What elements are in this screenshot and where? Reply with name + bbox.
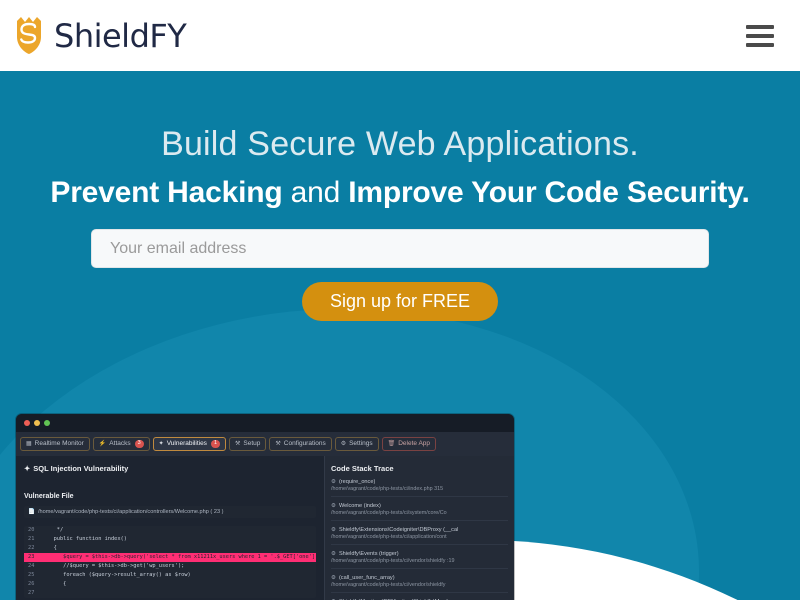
stack-item-head: ⚙ Shieldfy\Events (trigger) [331,551,508,557]
line-content: public function index() [44,535,127,544]
stack-item-head: ⚙ Shieldfy\Extensions\Codeigniter\DBProx… [331,527,508,533]
stack-item-call: (require_once) [339,479,375,485]
bug-icon: ✦ [24,464,30,473]
hamburger-line-2 [746,34,774,38]
gear-icon: ⚙ [331,551,336,557]
brand-logo[interactable]: ShieldFY [12,13,186,59]
code-line: 21 public function index() [24,535,316,544]
stack-item-path: /home/vagrant/code/php-tests/ci/vendor/s… [331,582,508,588]
code-line: 25 foreach ($query->result_array() as $r… [24,571,316,580]
sliders-icon: ⚙ [341,441,346,447]
landing-page: ShieldFY Build Secure Web Applications. … [0,0,800,600]
stack-item-call: (call_user_func_array) [339,575,395,581]
bug-icon: ✦ [159,441,164,447]
line-number: 23 [24,553,44,562]
tab-vulnerabilities[interactable]: ✦ Vulnerabilities 1 [153,437,226,451]
tab-label: Configurations [284,441,326,448]
signup-button[interactable]: Sign up for FREE [302,282,498,321]
tab-label: Setup [243,441,260,448]
stack-trace-item[interactable]: ⚙ Welcome (index) /home/vagrant/code/php… [331,503,508,521]
stack-item-head: ⚙ (call_user_func_array) [331,575,508,581]
line-number: 22 [24,544,44,553]
code-line: 26 { [24,580,316,589]
window-close-dot[interactable] [24,420,30,426]
code-line: 20 */ [24,526,316,535]
line-content: */ [44,526,63,535]
code-line: 22 { [24,544,316,553]
line-number: 21 [24,535,44,544]
hamburger-line-1 [746,25,774,29]
stack-trace-item[interactable]: ⚙ (require_once) /home/vagrant/code/php-… [331,479,508,497]
headline-conjunction: and [282,176,348,209]
stack-item-path: /home/vagrant/code/php-tests/ci/vendor/s… [331,558,508,564]
stack-item-path: /home/vagrant/code/php-tests/ci/applicat… [331,534,508,540]
vulnerable-file-row[interactable]: 📄 /home/vagrant/code/php-tests/ci/applic… [24,506,316,518]
code-line: 24 //$query = $this->db->get('wp_users')… [24,562,316,571]
hero-section: Build Secure Web Applications. Prevent H… [0,71,800,600]
tab-delete-app[interactable]: 🗑 Delete App [382,437,436,451]
stack-item-head: ⚙ (require_once) [331,479,508,485]
window-minimize-dot[interactable] [34,420,40,426]
stack-item-path: /home/vagrant/code/php-tests/ci/index.ph… [331,486,508,492]
stack-item-call: Shieldfy\Events (trigger) [339,551,399,557]
line-number: 26 [24,580,44,589]
line-content: $query = $this->db->query('select * from… [44,553,315,562]
tab-label: Realtime Monitor [35,441,84,448]
line-number: 27 [24,589,44,598]
stack-trace-item[interactable]: ⚙ Shieldfy\Events (trigger) /home/vagran… [331,551,508,569]
tab-label: Delete App [398,441,430,448]
line-content: { [44,544,57,553]
code-line: 27 [24,589,316,598]
window-maximize-dot[interactable] [44,420,50,426]
code-stack-trace-panel: Code Stack Trace ⚙ (require_once) /home/… [324,456,514,600]
tab-label: Settings [349,441,373,448]
hamburger-line-3 [746,43,774,47]
gear-icon: ⚙ [331,503,336,509]
gear-icon: ⚙ [331,575,336,581]
gear-icon: ⚙ [331,527,336,533]
stack-trace-item[interactable]: ⚙ Shieldfy\Extensions\Codeigniter\DBProx… [331,527,508,545]
app-tabbar: ▦ Realtime Monitor ⚡ Attacks 3 ✦ Vulnera… [16,432,514,456]
headline-bold-1: Prevent Hacking [50,176,282,209]
tab-settings[interactable]: ⚙ Settings [335,437,379,451]
stack-item-call: Shieldfy\Extensions\Codeigniter\DBProxy … [339,527,458,533]
code-viewer: 20 */ 21 public function index() 22 { [24,526,316,598]
hamburger-menu-icon[interactable] [746,25,774,47]
tab-configurations[interactable]: ⚒ Configurations [269,437,331,451]
gear-icon: ⚙ [331,479,336,485]
line-number: 25 [24,571,44,580]
attacks-badge: 3 [135,440,144,448]
stack-trace-item[interactable]: ⚙ (call_user_func_array) /home/vagrant/c… [331,575,508,593]
tab-label: Attacks [109,441,130,448]
vulnerability-title: SQL Injection Vulnerability [33,464,128,473]
line-content: foreach ($query->result_array() as $row) [44,571,191,580]
vulnerabilities-badge: 1 [211,440,220,448]
shield-s-icon [12,13,54,59]
line-number: 24 [24,562,44,571]
hero-headline-secondary: Prevent Hacking and Improve Your Code Se… [0,176,800,210]
app-window-titlebar [16,414,514,432]
email-input[interactable] [91,229,709,268]
tab-realtime-monitor[interactable]: ▦ Realtime Monitor [20,437,90,451]
stack-item-call: Welcome (index) [339,503,381,509]
signup-form: Sign up for FREE [91,229,709,321]
tab-label: Vulnerabilities [167,441,207,448]
line-content: { [44,580,66,589]
vulnerability-panel: ✦ SQL Injection Vulnerability Vulnerable… [16,456,324,600]
tab-setup[interactable]: ⚒ Setup [229,437,266,451]
headline-bold-2: Improve Your Code Security. [348,176,749,209]
vulnerable-file-label: Vulnerable File [24,493,316,500]
line-number: 20 [24,526,44,535]
brand-name: ShieldFY [54,17,186,55]
code-line-highlighted: 23 $query = $this->db->query('select * f… [24,553,316,562]
vulnerability-title-row: ✦ SQL Injection Vulnerability [24,464,316,473]
site-header: ShieldFY [0,0,800,71]
stack-item-path: /home/vagrant/code/php-tests/ci/system/c… [331,510,508,516]
tab-attacks[interactable]: ⚡ Attacks 3 [93,437,150,451]
line-content: //$query = $this->db->get('wp_users'); [44,562,184,571]
chart-icon: ▦ [26,441,32,447]
trash-icon: 🗑 [388,441,396,447]
file-icon: 📄 [28,509,35,515]
stack-item-head: ⚙ Welcome (index) [331,503,508,509]
app-body: ✦ SQL Injection Vulnerability Vulnerable… [16,456,514,600]
wrench-icon: ⚒ [275,441,280,447]
wrench-icon: ⚒ [235,441,240,447]
hero-content: Build Secure Web Applications. Prevent H… [0,125,800,321]
bolt-icon: ⚡ [99,441,106,447]
vulnerable-file-path: /home/vagrant/code/php-tests/ci/applicat… [38,509,224,515]
product-screenshot: ▦ Realtime Monitor ⚡ Attacks 3 ✦ Vulnera… [16,414,514,600]
hero-headline-primary: Build Secure Web Applications. [0,125,800,164]
stack-trace-title: Code Stack Trace [331,464,508,473]
